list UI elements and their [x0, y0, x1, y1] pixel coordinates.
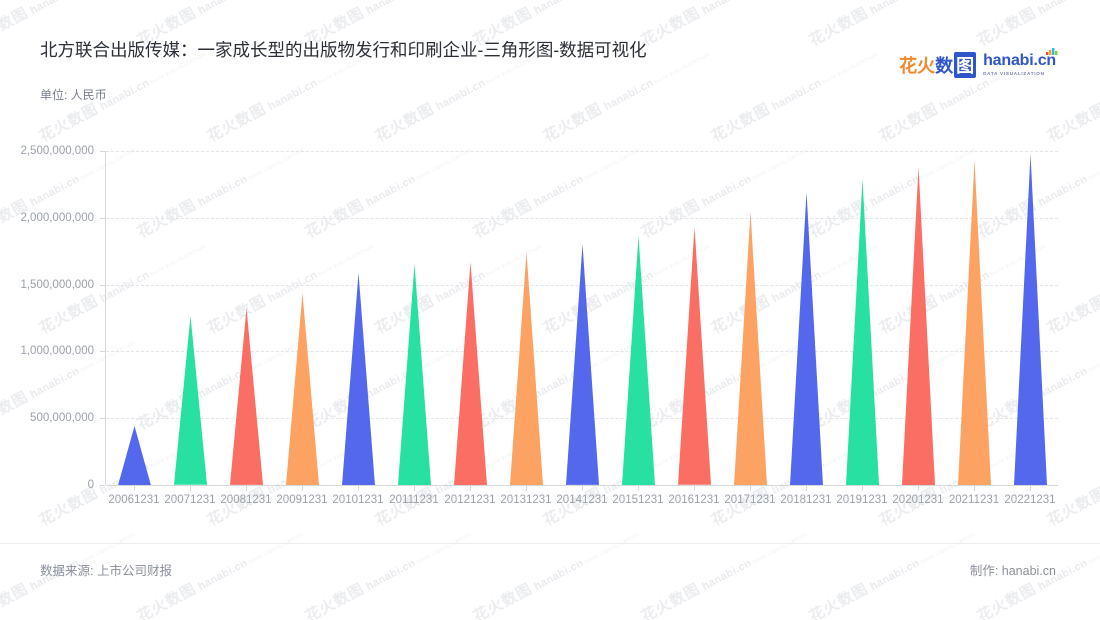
x-axis-tick: [470, 486, 471, 491]
brand-char-shu: 数: [935, 52, 953, 78]
x-axis-label: 20111231: [389, 494, 438, 506]
y-gridline: [106, 151, 1058, 152]
x-axis-tick: [638, 486, 639, 491]
triangle-bar[interactable]: [230, 308, 263, 485]
triangle-bar[interactable]: [846, 179, 879, 485]
y-axis-label: 2,500,000,000: [10, 145, 94, 157]
brand-logo-en: hanabi.cn DATA VISUALIZATION: [983, 53, 1056, 76]
x-axis-tick: [358, 486, 359, 491]
x-axis-label: 20121231: [444, 494, 495, 506]
y-axis-tick: [100, 218, 105, 219]
footer-divider: [0, 543, 1100, 544]
y-axis-label: 1,500,000,000: [10, 279, 94, 291]
brand-char-huo: 火: [917, 52, 935, 78]
y-axis-label: 500,000,000: [10, 412, 94, 424]
x-axis-tick: [1030, 486, 1031, 491]
y-axis-tick: [100, 485, 105, 486]
x-axis-label: 20131231: [500, 494, 551, 506]
x-axis-tick: [918, 486, 919, 491]
x-axis-label: 20091231: [276, 494, 327, 506]
triangle-bar[interactable]: [902, 167, 935, 485]
data-source-label: 数据来源: 上市公司财报: [40, 560, 172, 579]
y-axis-label: 0: [10, 479, 94, 491]
triangle-bar[interactable]: [398, 264, 431, 485]
triangle-bar[interactable]: [958, 160, 991, 485]
y-axis-tick: [100, 285, 105, 286]
triangle-bar[interactable]: [566, 244, 599, 485]
y-axis-label: 2,000,000,000: [10, 212, 94, 224]
x-axis-tick: [750, 486, 751, 491]
chart-header: 北方联合出版传媒：一家成长型的出版物发行和印刷企业-三角形图-数据可视化 单位:…: [0, 0, 1100, 110]
x-axis-tick: [414, 486, 415, 491]
x-axis-tick: [582, 486, 583, 491]
triangle-bar[interactable]: [118, 426, 151, 485]
y-axis-line: [105, 151, 106, 485]
y-axis-tick: [100, 418, 105, 419]
brand-tagline: DATA VISUALIZATION: [983, 72, 1056, 77]
x-axis-tick: [134, 486, 135, 491]
y-axis-tick: [100, 151, 105, 152]
x-axis-label: 20141231: [556, 494, 607, 506]
y-axis-label: 1,000,000,000: [10, 345, 94, 357]
x-axis-label: 20061231: [108, 494, 159, 506]
x-axis-label: 20211231: [949, 494, 999, 506]
x-axis-tick: [806, 486, 807, 491]
x-axis-label: 20151231: [612, 494, 663, 506]
credit-label: 制作: hanabi.cn: [970, 560, 1056, 579]
brand-char-tu: 图: [954, 52, 976, 78]
triangle-bar[interactable]: [454, 262, 487, 485]
x-axis-label: 20161231: [668, 494, 719, 506]
x-axis-label: 20191231: [836, 494, 887, 506]
x-axis-tick: [302, 486, 303, 491]
triangle-bar[interactable]: [174, 316, 207, 485]
y-axis-tick: [100, 351, 105, 352]
x-axis-tick: [246, 486, 247, 491]
x-axis-tick: [526, 486, 527, 491]
triangle-bar[interactable]: [734, 212, 767, 485]
x-axis-tick: [974, 486, 975, 491]
triangle-bar[interactable]: [510, 252, 543, 485]
brand-logo-cn: 花 火 数 图: [899, 52, 976, 78]
x-axis-tick: [862, 486, 863, 491]
x-axis-label: 20181231: [780, 494, 831, 506]
x-axis-label: 20201231: [892, 494, 943, 506]
brand-char-hua: 花: [899, 52, 917, 78]
triangle-bar[interactable]: [342, 273, 375, 485]
chart-page: 花火数图 hanabi.cn DATA VISUALIZATION花火数图 ha…: [0, 0, 1100, 620]
x-axis-label: 20171231: [724, 494, 775, 506]
x-axis-label: 20221231: [1004, 494, 1055, 506]
x-axis-tick: [190, 486, 191, 491]
page-title: 北方联合出版传媒：一家成长型的出版物发行和印刷企业-三角形图-数据可视化: [40, 36, 830, 64]
x-axis-tick: [694, 486, 695, 491]
triangle-bar[interactable]: [678, 227, 711, 485]
sparkle-icon: [1043, 46, 1059, 56]
triangle-bar[interactable]: [1014, 154, 1047, 485]
x-axis-label: 20081231: [220, 494, 271, 506]
chart-subtitle: 单位: 人民币: [40, 86, 107, 103]
x-axis-label: 20101231: [332, 494, 383, 506]
brand-logo: 花 火 数 图 hanabi.cn DATA VISUALIZATION: [899, 52, 1056, 78]
triangle-bar[interactable]: [622, 236, 655, 485]
triangle-bar[interactable]: [286, 293, 319, 485]
x-axis-label: 20071231: [164, 494, 215, 506]
triangle-bar[interactable]: [790, 192, 823, 485]
